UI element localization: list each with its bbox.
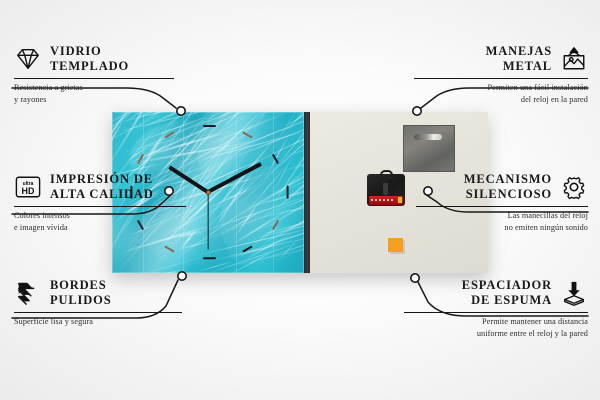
ultra-hd-icon: ultra HD	[14, 174, 42, 200]
callout-desc: Permiten una fácil instalación del reloj…	[408, 82, 588, 105]
callout-desc: Resistencia a grietas y rayones	[14, 82, 189, 105]
callout-espaciador-espuma: ESPACIADOR DE ESPUMA Permite mantener un…	[398, 278, 588, 339]
battery-label-strip	[371, 199, 395, 201]
callout-title: BORDES PULIDOS	[50, 278, 112, 309]
mechanism-shaft	[383, 183, 388, 195]
callout-rule	[414, 78, 588, 79]
polished-edges-icon	[14, 280, 42, 306]
callout-rule	[14, 206, 186, 207]
battery-terminal	[398, 197, 402, 203]
svg-text:HD: HD	[22, 186, 35, 196]
callout-rule	[416, 206, 588, 207]
callout-title: VIDRIO TEMPLADO	[50, 44, 129, 75]
picture-hanger-icon	[560, 46, 588, 72]
hanger-slot	[414, 134, 442, 140]
callout-rule	[404, 312, 588, 313]
metal-hanger-plate	[403, 125, 455, 172]
callout-rule	[14, 312, 182, 313]
callout-title: IMPRESIÓN DE ALTA CALIDAD	[50, 172, 154, 203]
quartz-mechanism-box	[367, 170, 405, 206]
callout-bordes-pulidos: BORDES PULIDOS Superficie lisa y segura	[14, 278, 194, 328]
callout-title: MANEJAS METAL	[486, 44, 552, 75]
callout-impresion-alta-calidad: ultra HD IMPRESIÓN DE ALTA CALIDAD Color…	[14, 172, 199, 233]
callout-desc: Las manecillas del reloj no emiten ningú…	[410, 210, 588, 233]
callout-title: MECANISMO SILENCIOSO	[464, 172, 552, 203]
gear-icon	[560, 174, 588, 200]
product-feature-infographic: VIDRIO TEMPLADO Resistencia a grietas y …	[0, 0, 600, 400]
orange-foam-spacer	[388, 238, 403, 252]
callout-vidrio-templado: VIDRIO TEMPLADO Resistencia a grietas y …	[14, 44, 189, 105]
diamond-icon	[14, 46, 42, 72]
callout-desc: Permite mantener una distancia uniforme …	[398, 316, 588, 339]
mechanism-body	[367, 174, 405, 206]
callout-manejas-metal: MANEJAS METAL Permiten una fácil instala…	[408, 44, 588, 105]
callout-mecanismo-silencioso: MECANISMO SILENCIOSO Las manecillas del …	[410, 172, 588, 233]
callout-title: ESPACIADOR DE ESPUMA	[462, 278, 552, 309]
foam-spacer-icon	[560, 280, 588, 306]
callout-desc: Superficie lisa y segura	[14, 316, 194, 328]
callout-desc: Colores intensos e imagen vívida	[14, 210, 199, 233]
battery	[369, 196, 403, 205]
callout-rule	[14, 78, 174, 79]
